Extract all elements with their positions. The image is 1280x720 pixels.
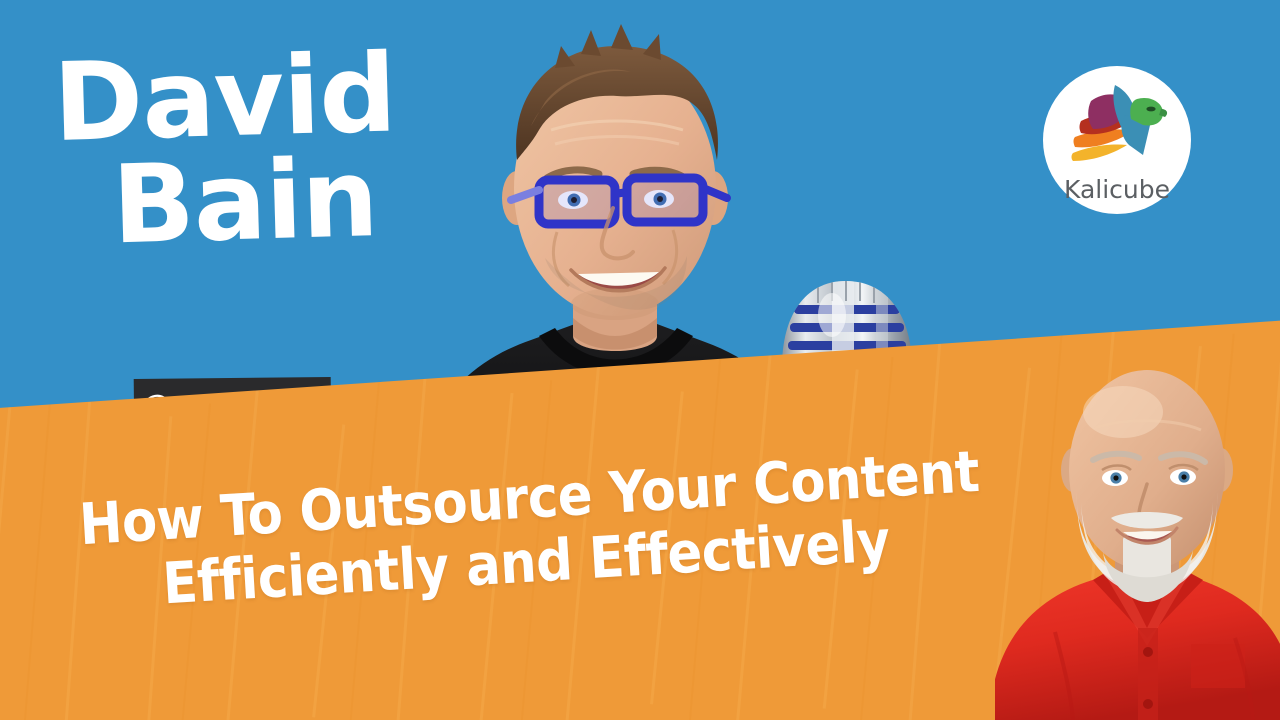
thumbnail-canvas: How To Outsource Your Content Efficientl… (0, 0, 1280, 720)
kalicube-logo[interactable]: Kalicube (1043, 66, 1191, 214)
kalicube-wordmark: Kalicube (1064, 175, 1170, 204)
cohost-portrait (995, 352, 1280, 720)
kalicube-bird-icon (1065, 81, 1169, 177)
